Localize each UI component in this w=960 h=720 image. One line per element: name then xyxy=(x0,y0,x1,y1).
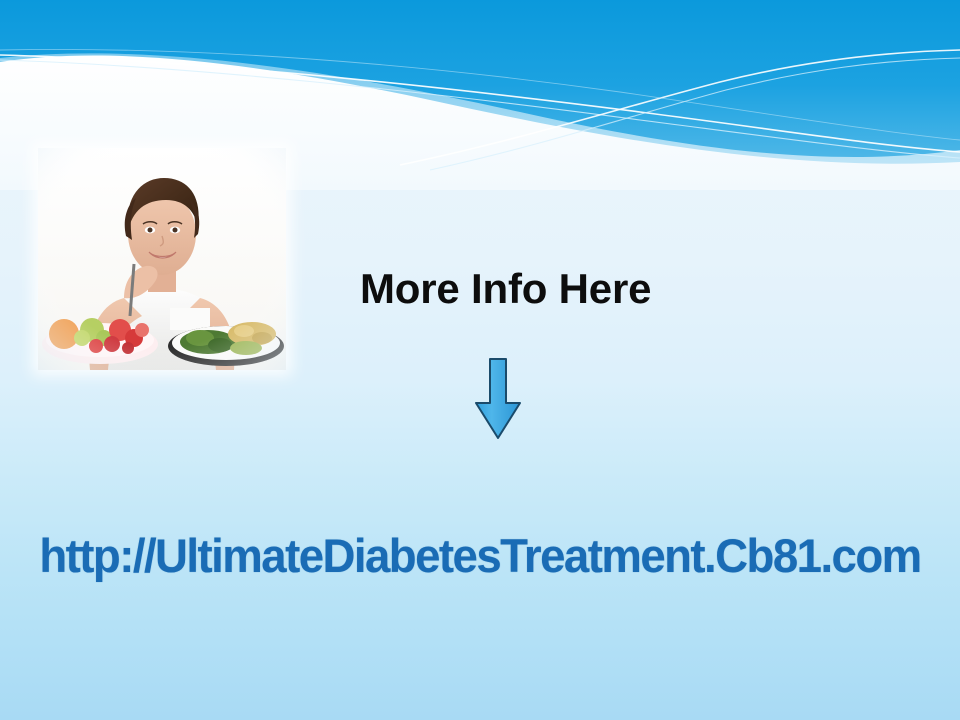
slide-canvas: More Info Here http://UltimateDiabetesTr… xyxy=(0,0,960,720)
headline-more-info-here: More Info Here xyxy=(360,268,651,310)
url-text[interactable]: http://UltimateDiabetesTreatment.Cb81.co… xyxy=(14,531,945,580)
hero-photo-image xyxy=(38,148,286,370)
hero-photo xyxy=(38,148,286,370)
down-arrow xyxy=(473,357,523,441)
down-arrow-icon xyxy=(476,359,520,438)
